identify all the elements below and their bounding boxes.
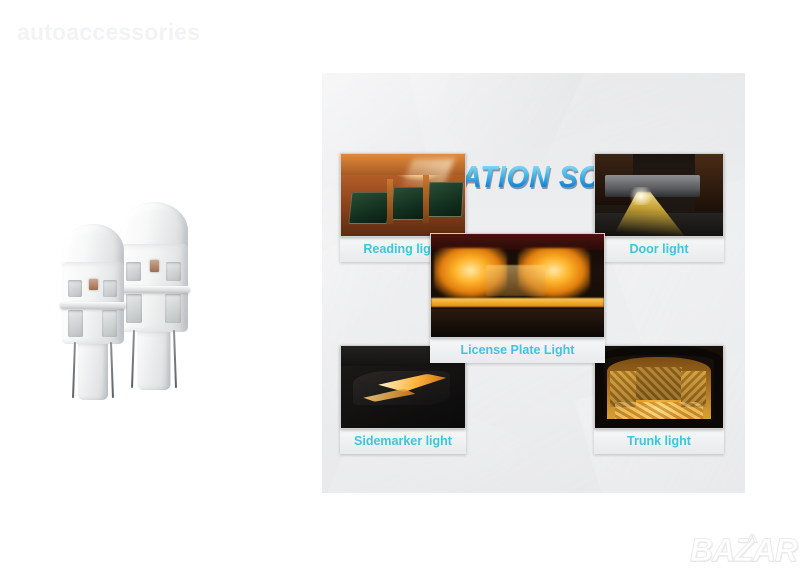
bulb-led-chip <box>150 260 159 272</box>
led-bulb-back <box>120 202 188 388</box>
watermark-autoaccessories: autoaccessories <box>17 19 200 46</box>
bulb-contact-pin <box>173 330 177 388</box>
product-image-led-bulbs <box>58 188 228 408</box>
bulb-contact-pin <box>131 330 135 388</box>
photo-door-light <box>594 153 724 237</box>
bulb-led-window <box>68 310 83 337</box>
card-license-plate-light[interactable]: License Plate Light <box>430 233 605 363</box>
bulb-ridge <box>60 302 126 309</box>
bulb-wedge-base <box>78 344 108 400</box>
application-scenario-panel: APPLICATION SCENARIO Reading light Door … <box>322 73 745 493</box>
bulb-led-window <box>126 262 141 281</box>
caption-door-light: Door light <box>594 237 724 262</box>
bulb-led-window <box>103 280 117 297</box>
watermark-bazar-accent-icon: ^ <box>747 531 758 552</box>
bulb-led-window <box>166 262 181 281</box>
caption-sidemarker-light: Sidemarker light <box>340 429 466 454</box>
watermark-bazar: BAZAR ^ <box>690 529 790 573</box>
watermark-bazar-text: BAZAR <box>690 533 790 567</box>
bulb-contact-pin <box>72 342 76 398</box>
bulb-led-window <box>68 280 82 297</box>
bulb-contact-pin <box>110 342 114 398</box>
card-door-light[interactable]: Door light <box>594 153 724 262</box>
photo-reading-light <box>340 153 466 237</box>
photo-trunk-light <box>594 345 724 429</box>
caption-license-plate-light: License Plate Light <box>430 338 605 363</box>
bulb-led-window <box>102 310 117 337</box>
bulb-wedge-base <box>138 332 171 390</box>
photo-license-plate-light <box>430 233 605 338</box>
caption-trunk-light: Trunk light <box>594 429 724 454</box>
bulb-led-chip <box>89 279 98 290</box>
bulb-led-window <box>165 294 181 323</box>
bulb-ridge <box>118 286 190 293</box>
card-trunk-light[interactable]: Trunk light <box>594 345 724 454</box>
bulb-led-window <box>126 294 142 323</box>
led-bulb-front <box>62 224 124 402</box>
